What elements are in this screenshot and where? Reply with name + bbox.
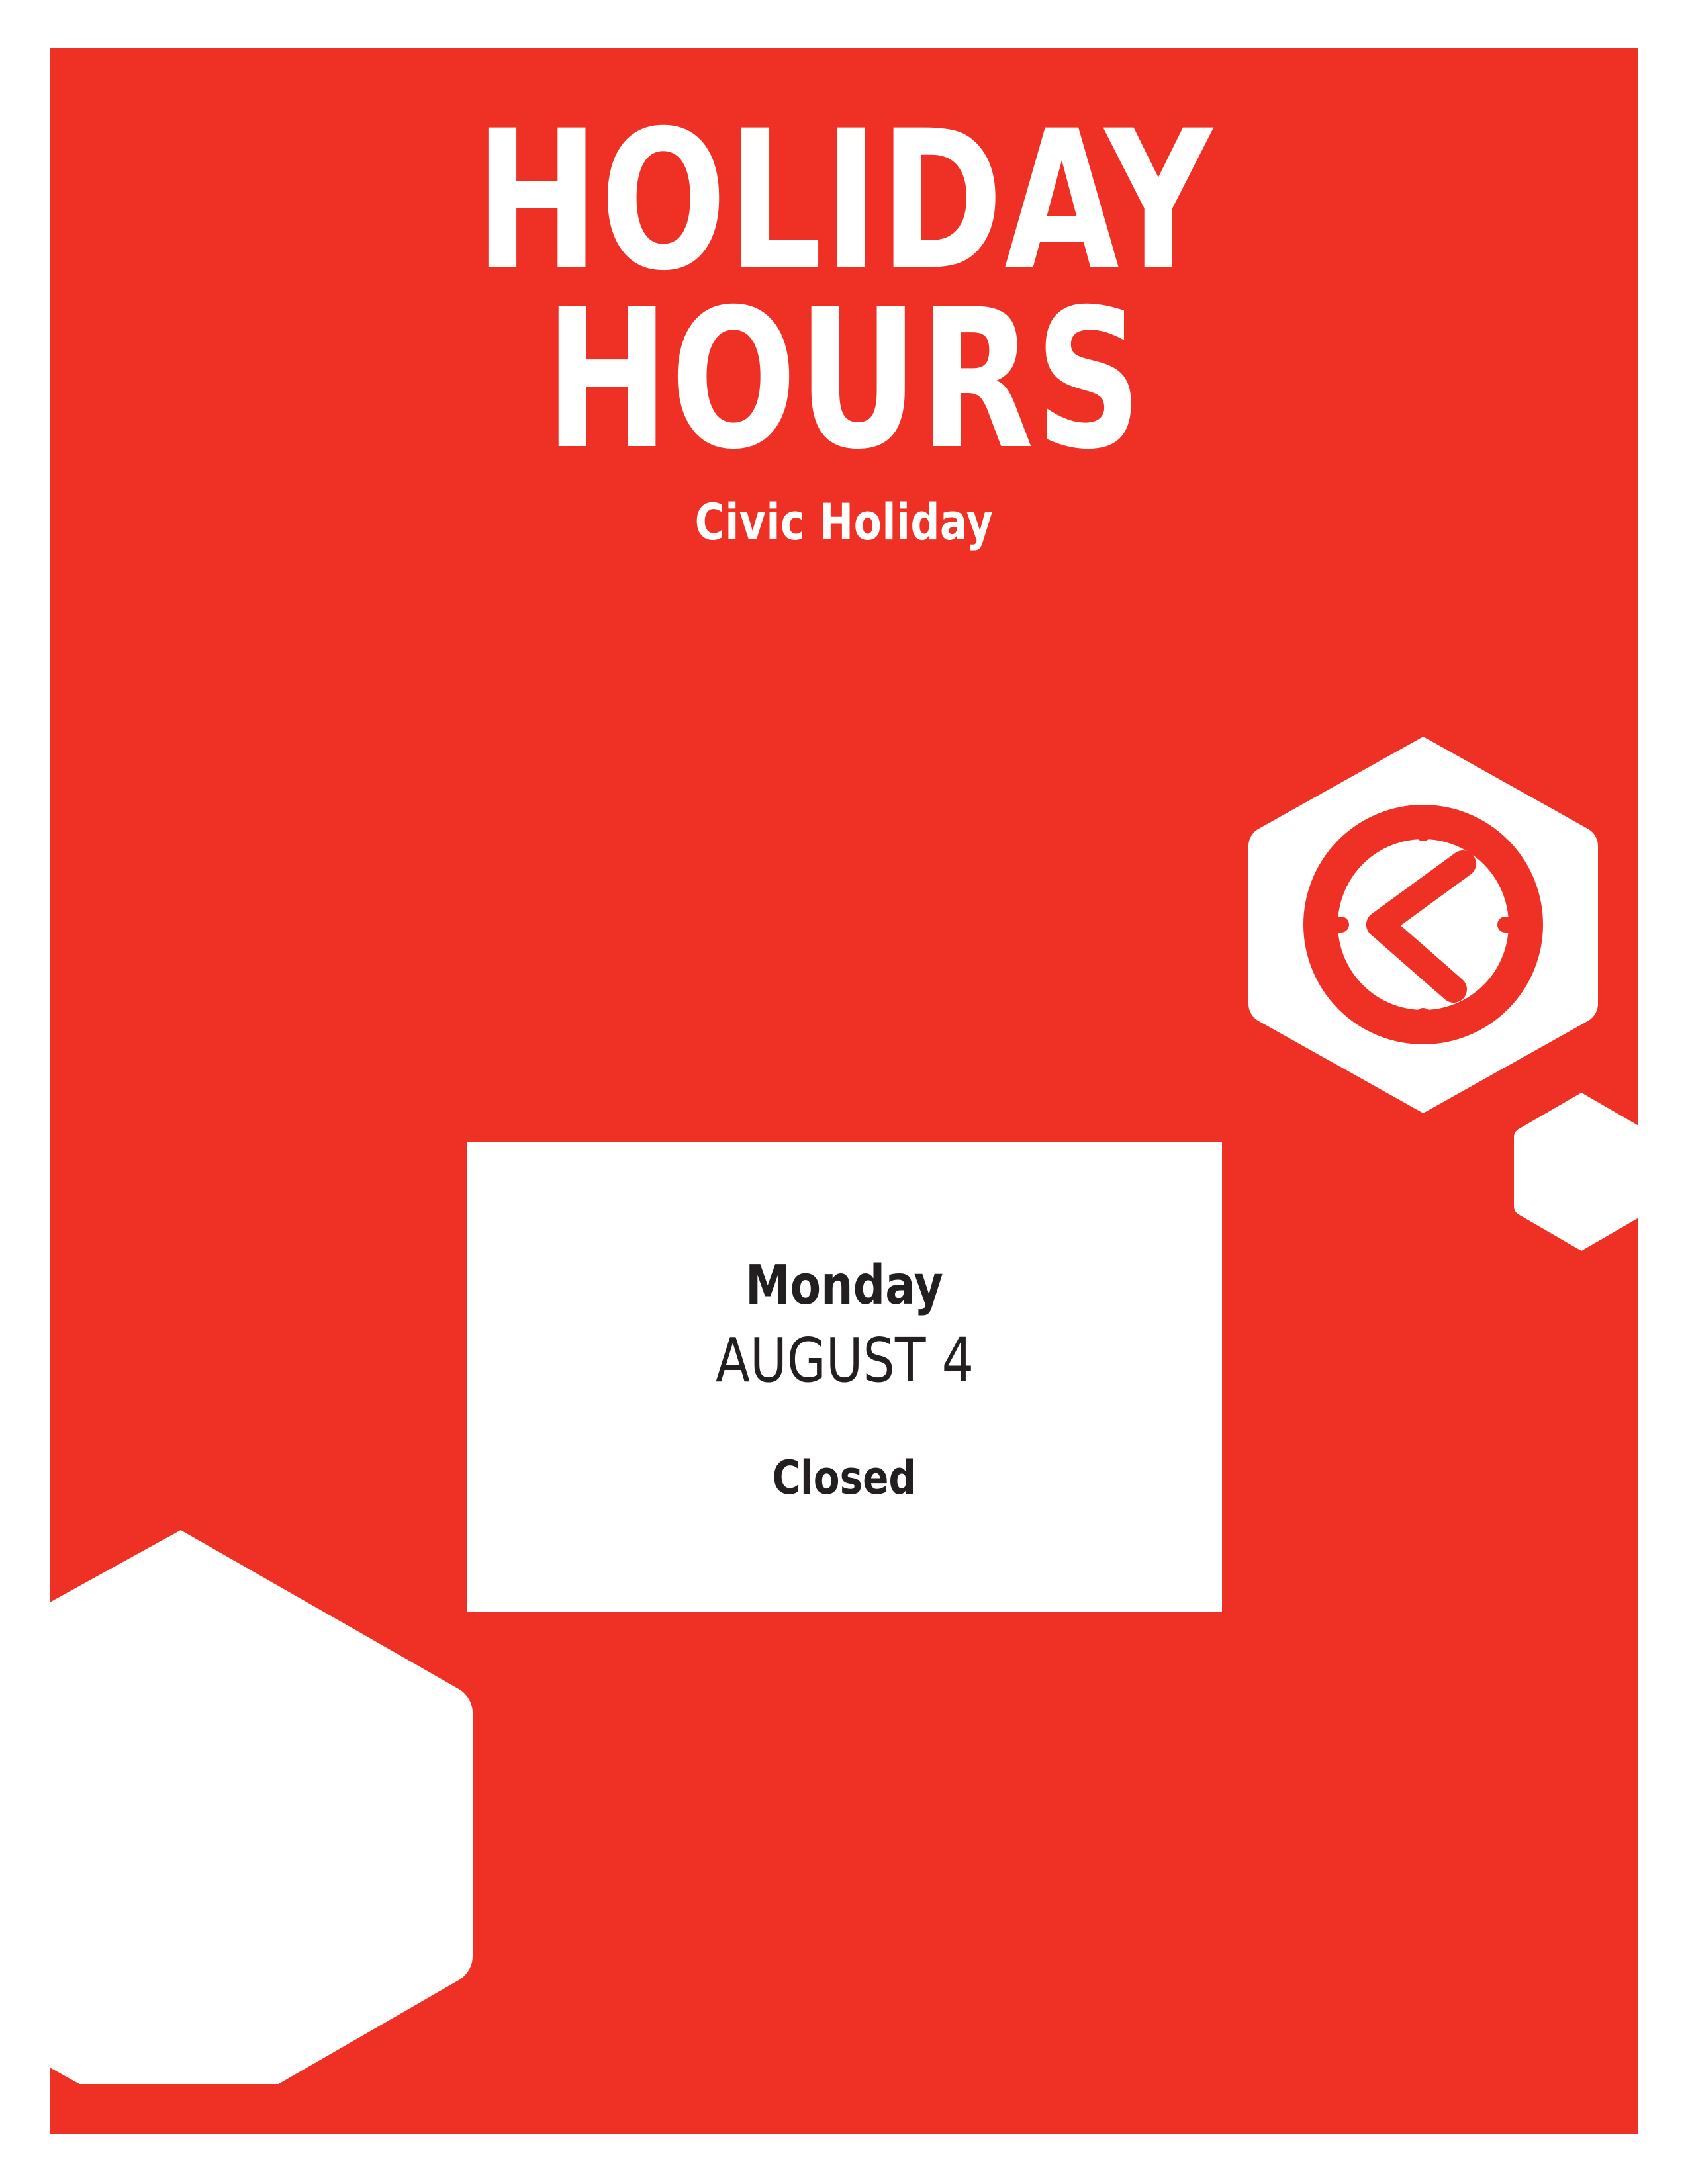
- status-badge: Closed: [773, 1454, 916, 1503]
- card-day-label: Monday: [745, 1257, 943, 1314]
- card-date-label: AUGUST 4: [715, 1329, 973, 1393]
- hexagon-shape: [1248, 737, 1598, 1113]
- hexagon-badge: [1244, 731, 1602, 1118]
- hexagon-accent-large: [12, 1525, 482, 2084]
- hexagon-accent-small: [1508, 1091, 1655, 1253]
- holiday-info-card: Monday AUGUST 4 Closed: [467, 1142, 1222, 1612]
- holiday-hours-poster: HOLIDAY HOURS Civic Holiday: [0, 0, 1688, 2184]
